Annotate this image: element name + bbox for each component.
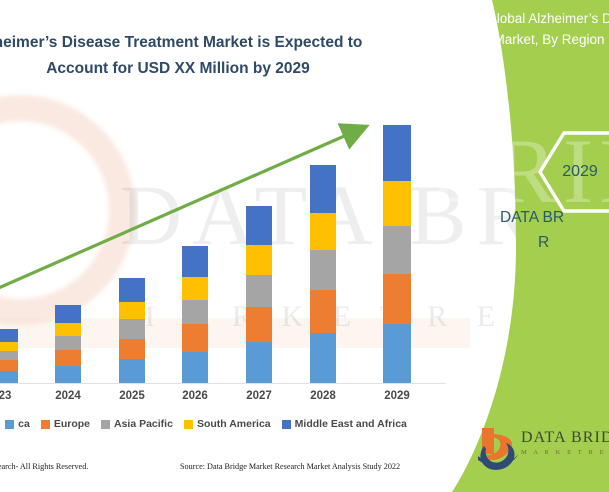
- chart-bar-segment: [182, 300, 208, 325]
- chart-bar-segment: [55, 350, 81, 365]
- chart-bar-segment: [310, 333, 336, 383]
- data-bridge-logo-text: DATA BRIDGE M A R K E T R E S E A R C H: [521, 429, 609, 456]
- chart-bar-segment: [383, 181, 411, 225]
- chart-bar-segment: [246, 342, 272, 383]
- legend-item[interactable]: Europe: [41, 418, 90, 430]
- chart-x-axis-labels: 23202420252026202720282029: [0, 390, 446, 406]
- hexagon-badge-year: 2029: [534, 128, 609, 216]
- legend-item[interactable]: South America: [184, 418, 271, 430]
- chart-bar-segment: [119, 319, 145, 339]
- chart-bar-segment: [0, 371, 18, 383]
- green-panel-title-line-1: Global Alzheimer’s D: [486, 11, 609, 26]
- legend-item[interactable]: Middle East and Africa: [282, 418, 407, 430]
- legend-label: Asia Pacific: [114, 418, 173, 430]
- logo-tagline: M A R K E T R E S E A R C H: [521, 449, 609, 456]
- legend-label: Europe: [54, 418, 90, 430]
- green-panel-title: Global Alzheimer’s D Market, By Region: [474, 8, 609, 50]
- chart-bar-segment: [0, 360, 18, 371]
- legend-label: South America: [197, 418, 271, 430]
- chart-x-label: 2029: [374, 390, 420, 402]
- chart-bar-segment: [55, 366, 81, 383]
- chart-bar-segment: [383, 324, 411, 383]
- chart-bar-segment: [55, 305, 81, 323]
- chart-bar: [55, 305, 81, 383]
- logo-name: DATA BRIDGE: [521, 429, 609, 447]
- chart-x-label: 2027: [237, 390, 281, 402]
- green-panel-brand: DATA BR R: [500, 205, 609, 255]
- chart-legend: caEuropeAsia PacificSouth AmericaMiddle …: [0, 418, 446, 430]
- chart-x-label: 2026: [173, 390, 217, 402]
- page-title-line-1: heimer’s Disease Treatment Market is Exp…: [0, 34, 362, 51]
- chart-bar-segment: [383, 274, 411, 325]
- chart-bar-segment: [182, 324, 208, 351]
- legend-swatch: [184, 420, 193, 429]
- page-title-line-2: Account for USD XX Million by 2029: [46, 60, 310, 77]
- chart-bar-segment: [383, 125, 411, 181]
- chart-bar-segment: [119, 339, 145, 360]
- chart-bar-segment: [55, 323, 81, 336]
- chart-bar-segment: [0, 342, 18, 351]
- chart-x-label: 2024: [46, 390, 90, 402]
- chart-bar-segment: [55, 336, 81, 350]
- chart-bar-segment: [0, 329, 18, 342]
- chart-x-label: 2028: [301, 390, 345, 402]
- page-title: heimer’s Disease Treatment Market is Exp…: [0, 30, 408, 82]
- chart-bar-segment: [119, 302, 145, 319]
- chart-bar-segment: [383, 226, 411, 274]
- legend-swatch: [5, 420, 14, 429]
- chart-x-label: 2025: [110, 390, 154, 402]
- chart-bar-segment: [119, 359, 145, 383]
- green-panel-title-line-2: Market, By Region: [474, 29, 609, 50]
- legend-item[interactable]: ca: [5, 418, 30, 430]
- green-panel-brand-line-1: DATA BR: [500, 209, 564, 226]
- legend-label: Middle East and Africa: [295, 418, 407, 430]
- chart-bar: [0, 329, 18, 383]
- legend-item[interactable]: Asia Pacific: [101, 418, 173, 430]
- chart-bar-segment: [0, 351, 18, 361]
- green-panel-brand-line-2: R: [500, 230, 609, 255]
- chart-bar-segment: [182, 352, 208, 383]
- footer-source: Source: Data Bridge Market Research Mark…: [180, 462, 400, 471]
- chart-axis-line: [0, 383, 446, 384]
- infographic-slide: DATA BRI M A R K E T R E S heimer’s Dise…: [0, 0, 609, 492]
- chart-x-label: 23: [0, 390, 27, 402]
- growth-trend-arrow: [0, 100, 380, 300]
- chart-bar: [383, 125, 411, 383]
- legend-swatch: [101, 420, 110, 429]
- legend-swatch: [282, 420, 291, 429]
- legend-swatch: [41, 420, 50, 429]
- footer-copyright: dge Market Research- All Rights Reserved…: [0, 462, 88, 471]
- legend-label: ca: [18, 418, 30, 430]
- chart-bar-segment: [246, 307, 272, 342]
